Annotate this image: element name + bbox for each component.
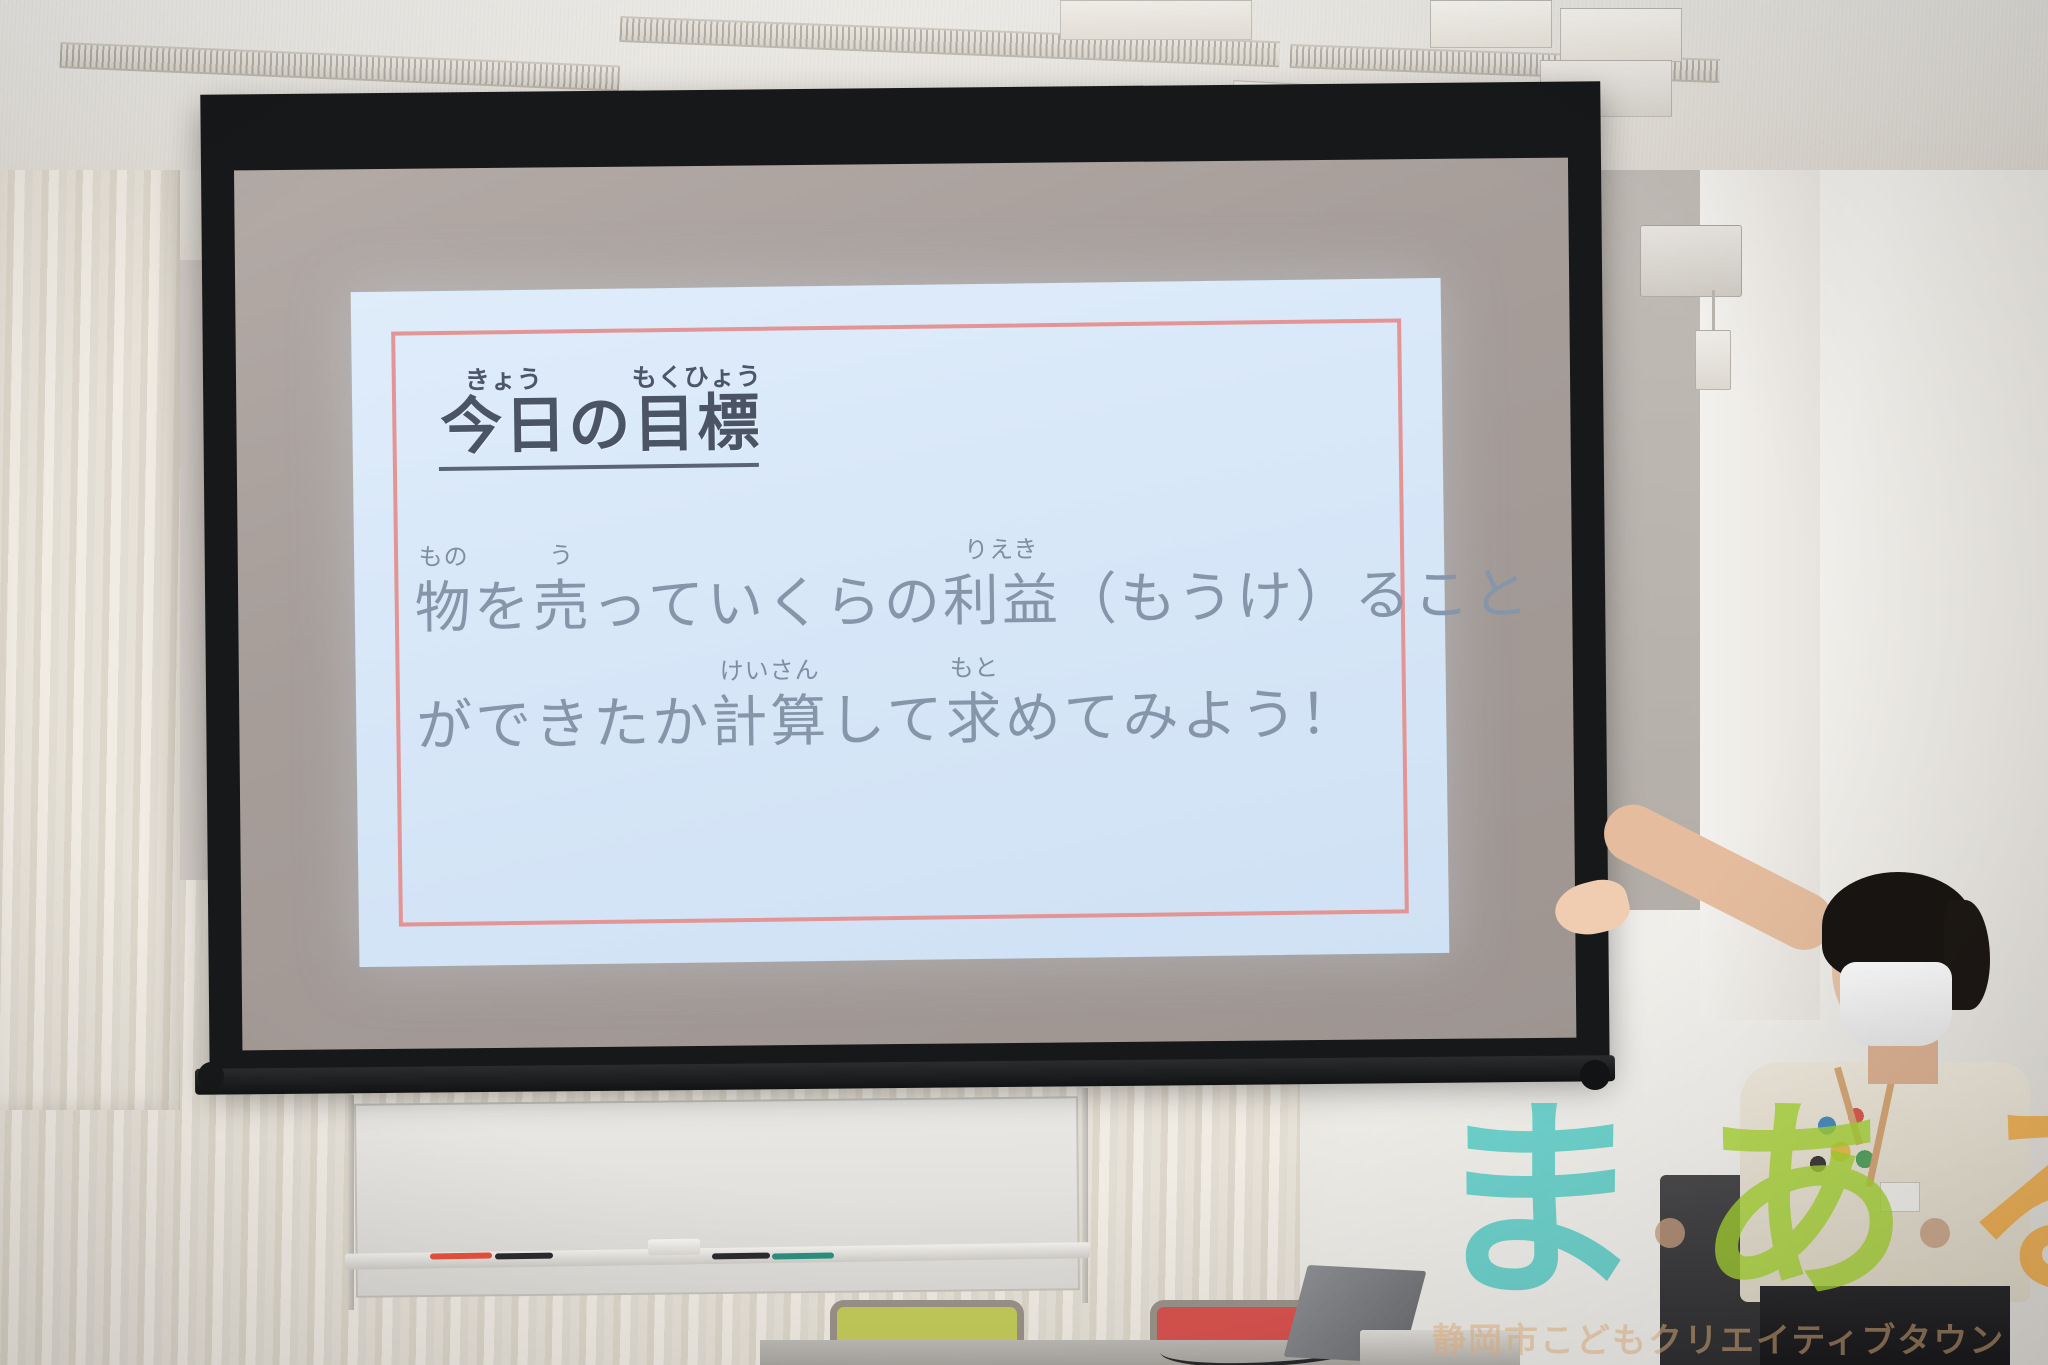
projected-slide: きょう 今日 の もくひょう 目標 もの 物 [351,278,1450,967]
title-group-0: きょう 今日 [440,367,569,459]
laptop-base [1360,1330,1520,1365]
line2-base-3: 求 [945,691,1005,748]
marker-black-1 [495,1253,553,1260]
line2-base-0: ができたか [416,694,712,754]
title-base-0: 今日 [440,395,569,459]
line1-group-0: もの 物 [414,546,474,637]
line1-ruby-4: りえき [964,538,1039,565]
title-base-1: の [568,394,633,457]
slide-title-ruby-row: きょう 今日 の もくひょう 目標 [440,365,763,459]
title-ruby-2: もくひょう [632,365,762,392]
line1-base-4: 利益 [943,572,1062,630]
screen-roller-knob-right [1580,1060,1610,1090]
line1-base-5: （もうけ）ること [1061,566,1532,628]
slide-body: もの 物 を う 売 っていくらの りえき 利益 [414,534,1393,783]
whiteboard-post-right [1082,1088,1088,1303]
ceiling-panel-a [1060,0,1252,40]
line2-group-1: けいさん 計算 [710,659,829,751]
line2-group-0: ができたか [416,660,712,754]
line1-group-3: っていくらの [591,539,943,634]
line2-ruby-3: もと [950,657,1000,684]
presenter-badge [1880,1182,1920,1212]
line1-base-3: っていくらの [591,573,943,634]
ceiling-light-a [1430,0,1552,48]
line2-ruby-1: けいさん [719,659,819,686]
slide-body-line-2: ができたか けいさん 計算 して もと 求 めてみよう！ [416,652,1393,755]
title-group-1: の [568,391,633,457]
curtain-left [0,110,180,1110]
presentation-photo-scene: きょう 今日 の もくひょう 目標 もの 物 [0,0,2048,1365]
title-group-2: もくひょう 目標 [632,365,763,457]
slide-body-line-1: もの 物 を う 売 っていくらの りえき 利益 [414,534,1391,637]
title-ruby-0: きょう [465,368,543,394]
line1-ruby-2: う [549,544,574,570]
ac-control-box [1695,330,1731,390]
screen-roller-knob-left [198,1062,224,1090]
line2-group-3: もと 求 [945,657,1005,748]
line2-group-2: して [828,657,945,749]
line2-base-1: 計算 [711,693,830,751]
line1-group-5: （もうけ）ること [1060,532,1531,628]
line1-base-1: を [473,579,533,636]
marker-red [430,1253,492,1260]
ceiling-light-b [1560,8,1682,62]
presenter-pants [1760,1286,2010,1365]
line1-base-0: 物 [414,580,474,637]
line2-base-4: めてみよう！ [1004,686,1359,747]
whiteboard-eraser [648,1239,700,1256]
ac-unit [1640,225,1742,297]
presenter-face-mask [1840,962,1952,1046]
slide-title: きょう 今日 の もくひょう 目標 [440,365,763,459]
line2-group-4: めてみよう！ [1004,652,1359,747]
title-base-2: 目標 [633,393,762,457]
line1-ruby-0: もの [418,546,468,573]
whiteboard-post-left [348,1095,354,1310]
marker-black-2 [712,1253,770,1260]
line1-group-1: を [473,545,533,636]
line1-group-4: りえき 利益 [942,538,1061,630]
line2-base-2: して [829,691,946,749]
line1-base-2: 売 [532,578,592,635]
line1-group-2: う 売 [532,544,592,635]
marker-green [772,1253,834,1260]
